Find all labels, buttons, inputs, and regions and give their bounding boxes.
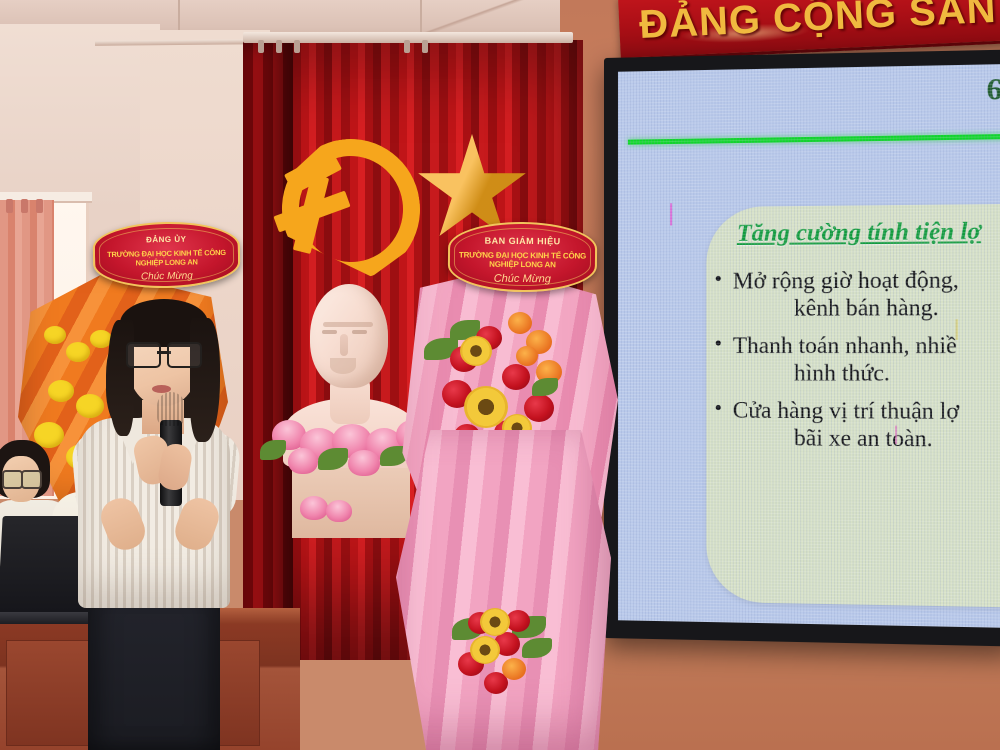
plaque-dang-uy: ĐẢNG ỦY TRƯỜNG ĐẠI HỌC KINH TẾ CÔNG NGHI… xyxy=(92,221,240,290)
bust-beard xyxy=(330,358,356,374)
slide-divider-rule xyxy=(628,134,1000,145)
curtain-hook xyxy=(21,199,28,213)
plaque-left-line-2: TRƯỜNG ĐẠI HỌC KINH TẾ CÔNG NGHIỆP LONG … xyxy=(95,248,238,268)
curtain-ring xyxy=(258,40,264,53)
lotus-flower xyxy=(288,448,318,474)
curtain-ring xyxy=(294,40,300,53)
lens-right xyxy=(167,342,202,368)
slide-bullet-1-line-2: kênh bán hàng. xyxy=(715,295,1000,319)
slide-surface[interactable]: 6. Tăng cường tính tiện lợ Mở rộng giờ h… xyxy=(618,64,1000,628)
microphone-head-icon[interactable] xyxy=(157,392,185,426)
yellow-gerbera xyxy=(480,608,510,636)
orange-orchid xyxy=(508,312,532,334)
seated-attendee-glasses-icon xyxy=(2,470,42,485)
lens-left xyxy=(2,470,23,489)
curtain-ring xyxy=(404,40,410,53)
plaque-right-line-2: TRƯỜNG ĐẠI HỌC KINH TẾ CÔNG NGHIỆP LONG … xyxy=(450,250,595,269)
red-curtain-left-fold xyxy=(243,40,293,660)
orange-orchid xyxy=(516,346,538,366)
slide-bullet-list: Mở rộng giờ hoạt động, kênh bán hàng. Th… xyxy=(715,267,1000,465)
plaque-left-line-1: ĐẢNG ỦY xyxy=(95,234,238,245)
yellow-gerbera xyxy=(470,636,500,664)
red-rose xyxy=(524,394,554,422)
curtain-hook xyxy=(6,199,13,213)
red-rose xyxy=(502,364,530,390)
slide-bullet-3-line-1: Cửa hàng vị trí thuận lợ xyxy=(715,398,1000,423)
bust-nose xyxy=(340,334,348,356)
slide-bullet-3-line-2: bãi xe an toàn. xyxy=(715,426,1000,452)
slide-artifact-yellow xyxy=(956,319,958,340)
lotus-flower xyxy=(300,496,328,520)
curtain-ring xyxy=(422,40,428,53)
yellow-orchid xyxy=(48,380,74,402)
party-banner-text: ĐẢNG CỘNG SẢN xyxy=(638,0,997,48)
plaque-right-line-1: BAN GIÁM HIỆU xyxy=(450,235,595,246)
projector-screen[interactable]: 6. Tăng cường tính tiện lợ Mở rộng giờ h… xyxy=(604,49,1000,646)
plaque-ban-giam-hieu: BAN GIÁM HIỆU TRƯỜNG ĐẠI HỌC KINH TẾ CÔN… xyxy=(448,221,598,292)
bouquet-bottom xyxy=(440,600,570,710)
yellow-orchid xyxy=(76,394,104,418)
plaque-right-line-3: Chúc Mừng xyxy=(450,272,595,285)
bust-eye-left xyxy=(322,330,337,334)
lens-left xyxy=(126,342,161,368)
foliage-leaf xyxy=(522,638,552,658)
slide-artifact-magenta-2 xyxy=(895,426,897,444)
orange-lily xyxy=(502,658,526,680)
lotus-flower xyxy=(348,450,380,476)
speaker-hair-side-right xyxy=(190,318,220,442)
lotus-flower xyxy=(326,500,352,522)
slide-number: 6. xyxy=(987,72,1000,107)
slide-bullet-1-line-1: Mở rộng giờ hoạt động, xyxy=(715,267,1000,292)
curtain-ring xyxy=(276,40,282,53)
hammer-and-sickle-icon xyxy=(268,135,390,255)
slide-bullet-2-line-2: hình thức. xyxy=(715,361,1000,385)
photo-scene: ĐẢNG CỘNG SẢN 6. Tăng cường tính tiện lợ… xyxy=(0,0,1000,750)
speaker-trousers xyxy=(88,590,220,750)
speaker-glasses-icon xyxy=(126,342,202,364)
sunflower xyxy=(460,336,492,366)
yellow-orchid xyxy=(44,326,66,344)
yellow-orchid xyxy=(66,342,90,362)
curtain-hook xyxy=(36,199,43,213)
slide-artifact-magenta xyxy=(670,203,672,225)
bust-brow xyxy=(323,322,373,327)
slide-heading: Tăng cường tính tiện lợ xyxy=(737,219,981,248)
lens-right xyxy=(21,470,42,489)
bust-eye-right xyxy=(352,330,367,334)
sunflower xyxy=(464,386,508,428)
speaker-hair-side-left xyxy=(108,320,134,436)
